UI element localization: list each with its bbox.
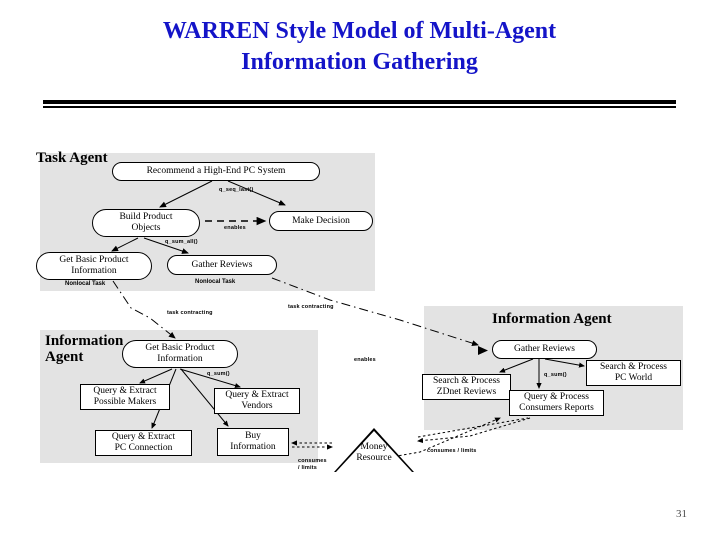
node-buy-information[interactable]: Buy Information bbox=[217, 428, 289, 456]
node-task-agent-get-basic-product-information[interactable]: Get Basic Product Information bbox=[36, 252, 152, 280]
page-number: 31 bbox=[676, 508, 687, 520]
title-divider-thick bbox=[43, 100, 676, 104]
edge-label-consumes-limits-1: consumes / limits bbox=[298, 458, 327, 472]
edge-label-q-sum-all: q_sum_all() bbox=[165, 239, 198, 246]
information-agent-right-caption: Information Agent bbox=[492, 311, 612, 327]
node-search-process-pc-world[interactable]: Search & Process PC World bbox=[586, 360, 681, 386]
node-task-agent-gather-reviews[interactable]: Gather Reviews bbox=[167, 255, 277, 275]
page-title: WARREN Style Model of Multi-Agent Inform… bbox=[0, 16, 719, 78]
node-query-extract-pc-connection[interactable]: Query & Extract PC Connection bbox=[95, 430, 192, 456]
edge-label-q-sum-right: q_sum() bbox=[544, 372, 567, 379]
information-agent-left-caption: Information Agent bbox=[45, 333, 123, 365]
slide-canvas: WARREN Style Model of Multi-Agent Inform… bbox=[0, 0, 719, 539]
title-divider-thin bbox=[43, 106, 676, 108]
node-money-resource[interactable]: Money Resource bbox=[334, 428, 414, 472]
edge-label-enables-task-agent: enables bbox=[224, 225, 246, 232]
node-build-product-objects[interactable]: Build Product Objects bbox=[92, 209, 200, 237]
edge-label-q-sum-left: q_sum() bbox=[207, 371, 230, 378]
sublabel-nonlocal-task-gather-reviews: Nonlocal Task bbox=[195, 279, 235, 286]
node-info-agent-get-basic-product-information[interactable]: Get Basic Product Information bbox=[122, 340, 238, 368]
node-query-extract-possible-makers[interactable]: Query & Extract Possible Makers bbox=[80, 384, 170, 410]
edge-label-task-contracting-2: task contracting bbox=[288, 304, 334, 311]
node-query-process-consumers-reports[interactable]: Query & Process Consumers Reports bbox=[509, 390, 604, 416]
money-resource-label: Money Resource bbox=[334, 442, 414, 464]
node-recommend-high-end-pc-system[interactable]: Recommend a High-End PC System bbox=[112, 162, 320, 181]
edge-label-task-contracting-1: task contracting bbox=[167, 310, 213, 317]
node-info-agent-gather-reviews[interactable]: Gather Reviews bbox=[492, 340, 597, 359]
node-make-decision[interactable]: Make Decision bbox=[269, 211, 373, 231]
sublabel-nonlocal-task-get-basic: Nonlocal Task bbox=[65, 281, 105, 288]
edge-label-enables-right: enables bbox=[354, 357, 376, 364]
task-agent-caption: Task Agent bbox=[36, 150, 108, 166]
title-line-2: Information Gathering bbox=[0, 47, 719, 78]
edge-label-q-seq-last: q_seq_last() bbox=[219, 187, 254, 194]
edge-label-consumes-limits-2: consumes / limits bbox=[427, 448, 477, 455]
title-line-1: WARREN Style Model of Multi-Agent bbox=[163, 18, 556, 44]
node-query-extract-vendors[interactable]: Query & Extract Vendors bbox=[214, 388, 300, 414]
node-search-process-zdnet-reviews[interactable]: Search & Process ZDnet Reviews bbox=[422, 374, 511, 400]
